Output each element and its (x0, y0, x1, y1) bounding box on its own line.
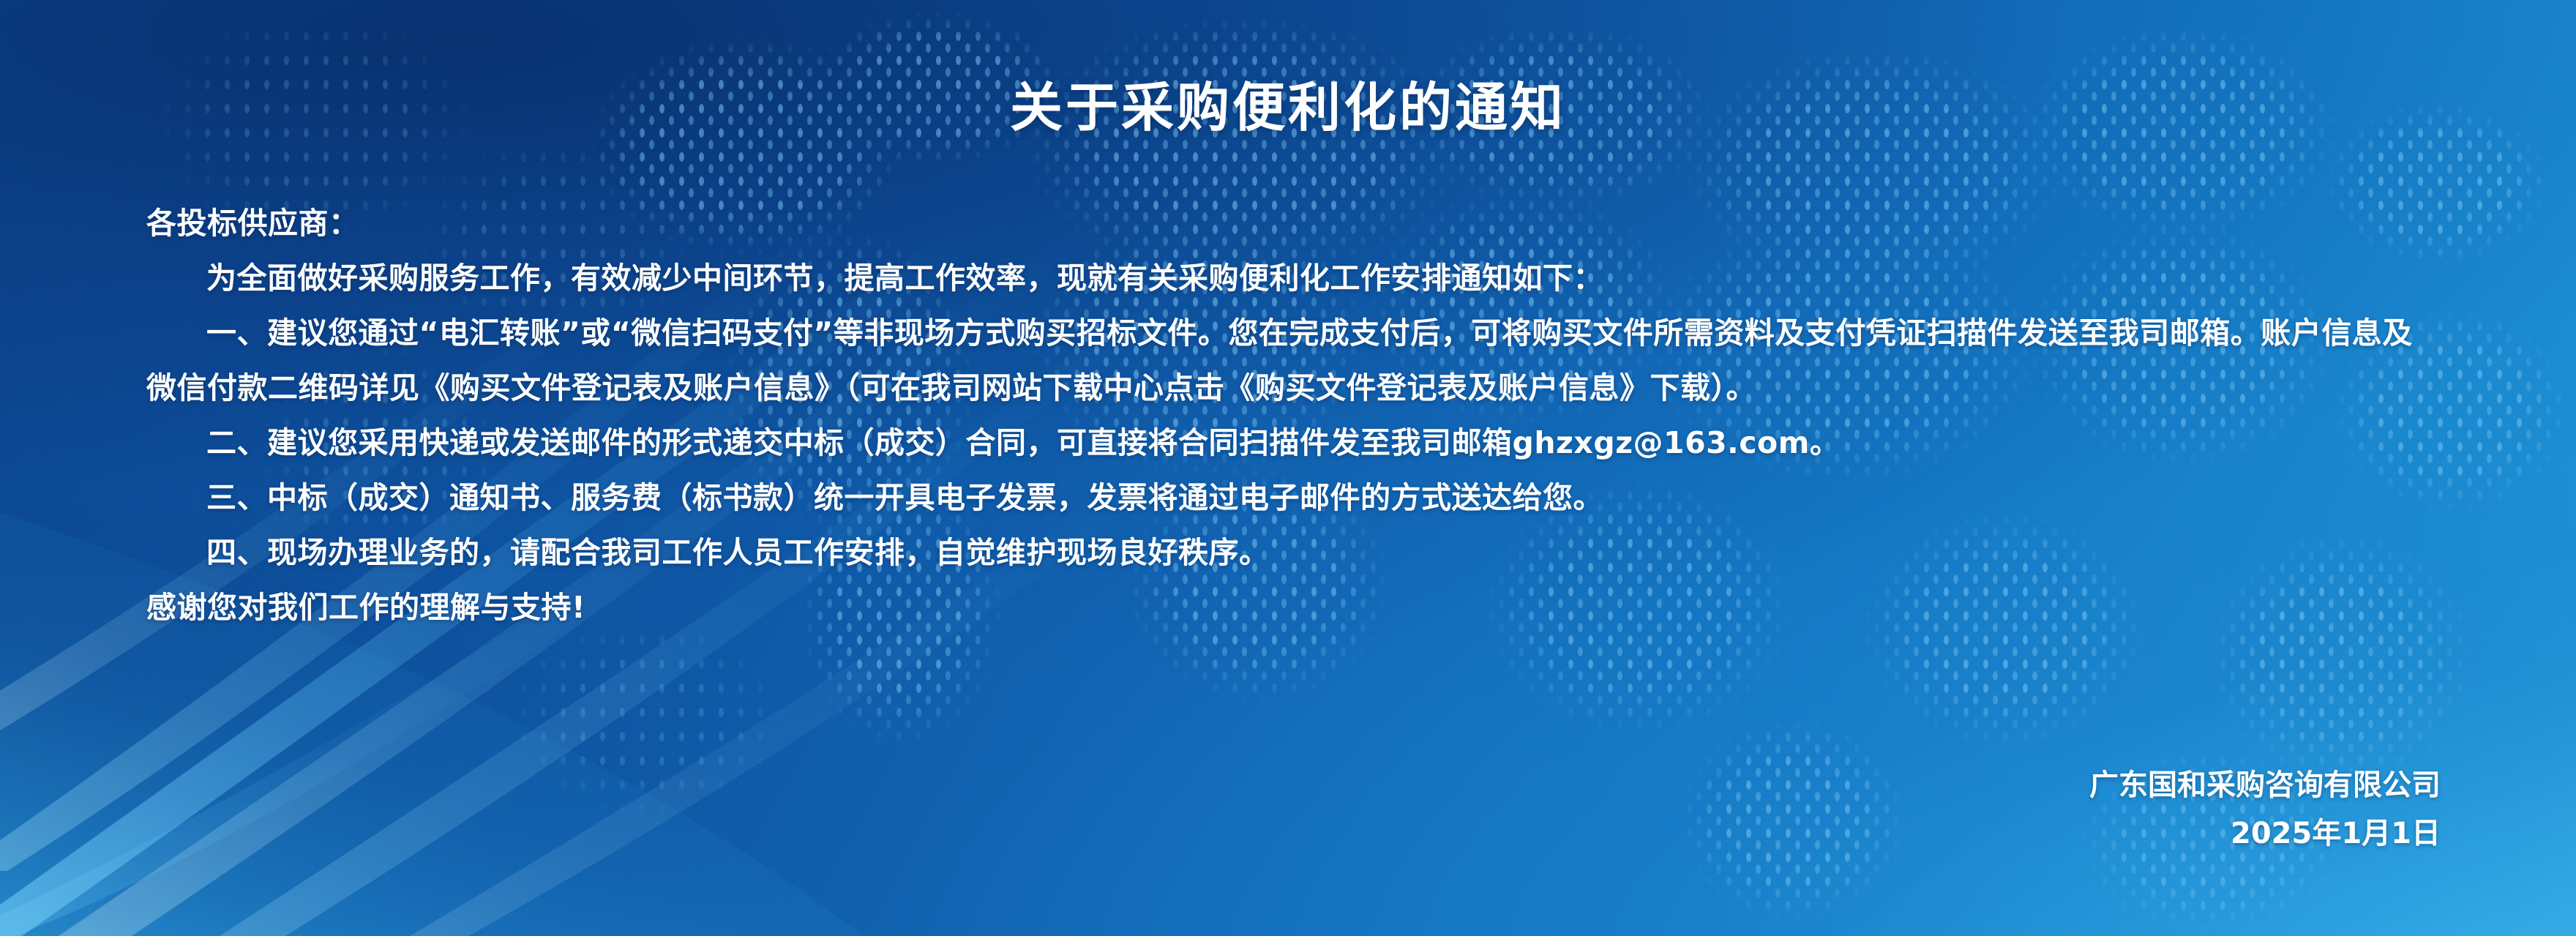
signature-company: 广东国和采购咨询有限公司 (2089, 761, 2441, 809)
notice-content: 关于采购便利化的通知 各投标供应商： 为全面做好采购服务工作，有效减少中间环节，… (0, 0, 2576, 936)
paragraph-item-3: 三、中标（成交）通知书、服务费（标书款）统一开具电子发票，发票将通过电子邮件的方… (146, 471, 2441, 525)
paragraph-item-4: 四、现场办理业务的，请配合我司工作人员工作安排，自觉维护现场良好秩序。 (146, 525, 2441, 580)
closing-line: 感谢您对我们工作的理解与支持! (146, 580, 2441, 635)
signature-block: 广东国和采购咨询有限公司 2025年1月1日 (2089, 761, 2441, 858)
paragraph-item-2: 二、建议您采用快递或发送邮件的形式递交中标（成交）合同，可直接将合同扫描件发至我… (146, 416, 2441, 471)
paragraph-intro: 为全面做好采购服务工作，有效减少中间环节，提高工作效率，现就有关采购便利化工作安… (146, 251, 2441, 306)
paragraph-item-1: 一、建议您通过“电汇转账”或“微信扫码支付”等非现场方式购买招标文件。您在完成支… (146, 306, 2441, 416)
notice-banner: 关于采购便利化的通知 各投标供应商： 为全面做好采购服务工作，有效减少中间环节，… (0, 0, 2576, 936)
page-title: 关于采购便利化的通知 (0, 64, 2576, 141)
salutation: 各投标供应商： (146, 196, 2441, 251)
signature-date: 2025年1月1日 (2089, 809, 2441, 858)
notice-body: 各投标供应商： 为全面做好采购服务工作，有效减少中间环节，提高工作效率，现就有关… (146, 196, 2441, 635)
